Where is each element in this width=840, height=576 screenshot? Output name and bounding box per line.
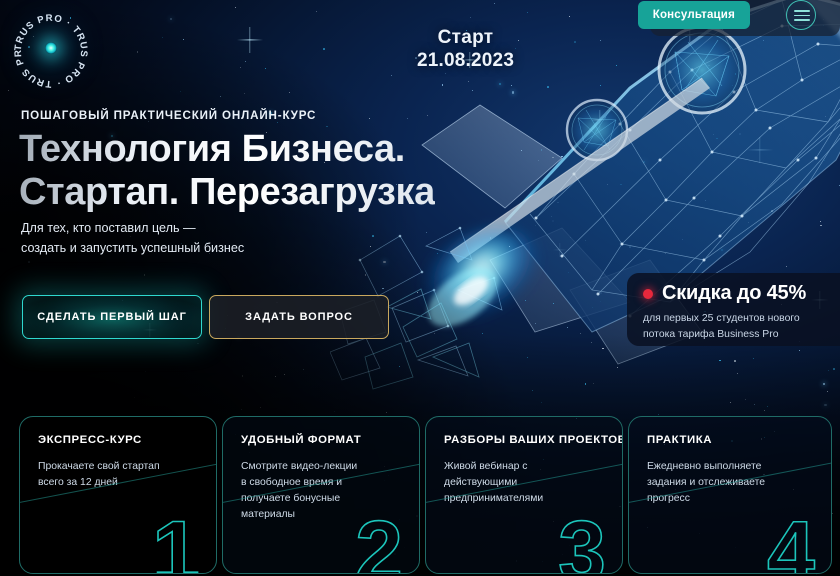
card-number: 3 — [558, 509, 604, 574]
card-text-line: материалы — [241, 509, 295, 520]
feature-card[interactable]: УДОБНЫЙ ФОРМАТ Смотрите видео-лекции в с… — [222, 416, 420, 574]
discount-title: Скидка до 45% — [662, 282, 806, 305]
burger-line-2 — [794, 15, 810, 17]
start-date: 21.08.2023 — [417, 49, 514, 73]
card-text-line: в свободное время и — [241, 477, 342, 488]
start-label: Старт — [417, 28, 514, 49]
discount-note-line-2: потока тарифа Business Pro — [643, 327, 838, 343]
card-text-line: всего за 12 дней — [38, 477, 118, 488]
star-sparkle-icon — [553, 243, 567, 257]
card-text-line: Смотрите видео-лекции — [241, 461, 357, 472]
discount-note-line-1: для первых 25 студентов нового — [643, 311, 838, 327]
star-sparkle-icon — [237, 27, 263, 53]
card-text: Живой вебинар с действующими предпринима… — [444, 459, 606, 507]
consultation-button[interactable]: Консультация — [638, 1, 750, 29]
course-start-block: Старт 21.08.2023 — [417, 28, 514, 73]
card-title: РАЗБОРЫ ВАШИХ ПРОЕКТОВ — [444, 434, 623, 446]
card-text-line: Живой вебинар с — [444, 461, 527, 472]
hero-subtitle: Для тех, кто поставил цель — создать и з… — [21, 219, 244, 258]
star-sparkle-icon — [590, 110, 610, 130]
card-text-line: прогресс — [647, 493, 690, 504]
page-title: Технология Бизнеса. Стартап. Перезагрузк… — [19, 128, 435, 213]
card-text-line: задания и отслеживаете — [647, 477, 765, 488]
feature-card[interactable]: ЭКСПРЕСС-КУРС Прокачаете свой стартап вс… — [19, 416, 217, 574]
card-text-line: Ежедневно выполняете — [647, 461, 761, 472]
subtitle-line-2: создать и запустить успешный бизнес — [21, 239, 244, 259]
card-number: 4 — [767, 509, 813, 574]
trus-pro-logo[interactable]: TRUS PRO · TRUS PRO · TRUS PRO · — [8, 8, 94, 90]
burger-line-1 — [794, 10, 810, 12]
feature-card[interactable]: ПРАКТИКА Ежедневно выполняете задания и … — [628, 416, 832, 574]
feature-card[interactable]: РАЗБОРЫ ВАШИХ ПРОЕКТОВ Живой вебинар с д… — [425, 416, 623, 574]
first-step-button[interactable]: СДЕЛАТЬ ПЕРВЫЙ ШАГ — [22, 295, 202, 339]
card-text-line: получаете бонусные — [241, 493, 340, 504]
card-text-line: предпринимателями — [444, 493, 543, 504]
burger-line-3 — [794, 19, 810, 21]
card-text-line: действующими — [444, 477, 517, 488]
subtitle-line-1: Для тех, кто поставил цель — — [21, 219, 244, 239]
card-text-line: Прокачаете свой стартап — [38, 461, 160, 472]
card-title: УДОБНЫЙ ФОРМАТ — [241, 434, 361, 446]
card-title: ЭКСПРЕСС-КУРС — [38, 434, 142, 446]
card-text: Прокачаете свой стартап всего за 12 дней — [38, 459, 200, 491]
discount-badge: Скидка до 45% для первых 25 студентов но… — [627, 273, 840, 346]
card-text: Ежедневно выполняете задания и отслежива… — [647, 459, 815, 507]
title-line-2: Стартап. Перезагрузка — [19, 171, 435, 214]
card-text: Смотрите видео-лекции в свободное время … — [241, 459, 403, 524]
title-line-1: Технология Бизнеса. — [19, 128, 405, 170]
ask-question-button[interactable]: ЗАДАТЬ ВОПРОС — [209, 295, 389, 339]
card-number: 1 — [152, 509, 198, 574]
discount-note: для первых 25 студентов нового потока та… — [643, 311, 838, 342]
red-dot-icon — [643, 289, 653, 299]
rocket-window-small — [567, 100, 627, 160]
card-title: ПРАКТИКА — [647, 434, 712, 446]
hero-kicker: ПОШАГОВЫЙ ПРАКТИЧЕСКИЙ ОНЛАЙН-КУРС — [21, 109, 316, 122]
star-sparkle-icon — [747, 137, 773, 163]
rocket-window-large — [659, 27, 745, 113]
landing-page-root: TRUS PRO · TRUS PRO · TRUS PRO · Консуль… — [0, 0, 840, 576]
hamburger-menu-icon[interactable] — [786, 0, 816, 30]
feature-cards: ЭКСПРЕСС-КУРС Прокачаете свой стартап вс… — [0, 416, 840, 576]
